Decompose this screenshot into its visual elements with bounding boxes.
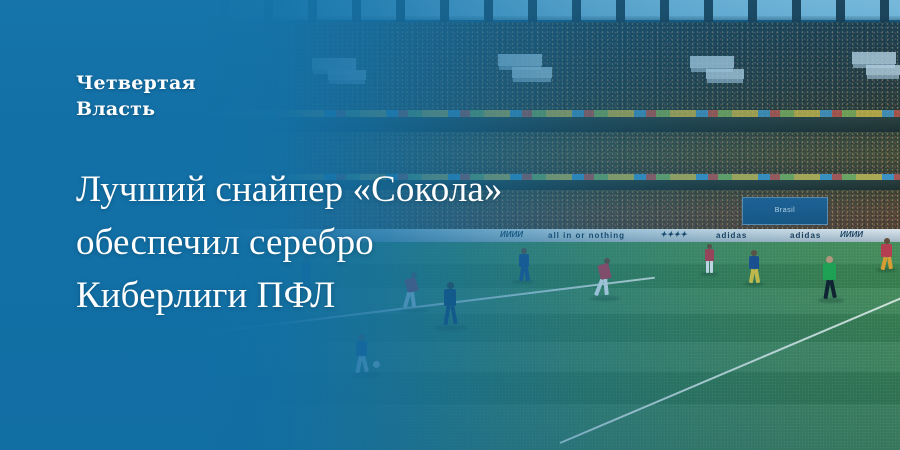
- site-logo-line-2: Власть: [76, 96, 196, 122]
- headline-line-3: Киберлиги ПФЛ: [76, 269, 716, 322]
- article-hero-card: Brasil ИИИИ all in or nothing ✦✦✦✦ adida…: [0, 0, 900, 450]
- article-headline[interactable]: Лучший снайпер «Сокола» обеспечил серебр…: [76, 163, 716, 322]
- headline-line-2: обеспечил серебро: [76, 216, 716, 269]
- site-logo-line-1: Четвертая: [76, 70, 196, 96]
- headline-line-1: Лучший снайпер «Сокола»: [76, 163, 716, 216]
- site-logo[interactable]: Четвертая Власть: [76, 70, 196, 122]
